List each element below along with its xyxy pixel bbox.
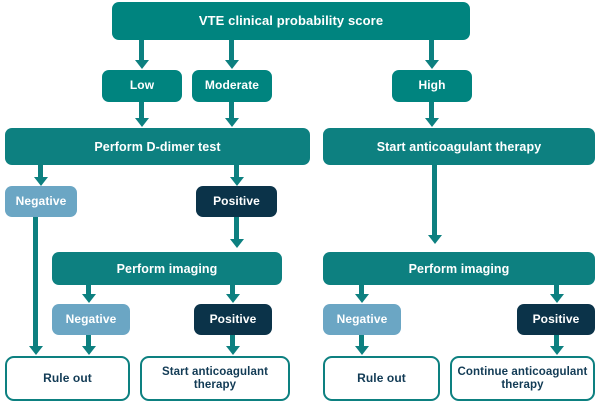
connector-imaging-right-to-negative-arrow [355,294,369,303]
connector-imaging-right-positive-to-continue-arrow [550,346,564,355]
node-label: Start anticoagulant therapy [377,140,542,154]
node-outcome-rule-out-right: Rule out [323,356,440,401]
connector-moderate-to-ddimer-arrow [225,118,239,127]
node-label: Positive [213,195,260,208]
connector-root-to-high-arrow [425,60,439,69]
node-probability-low: Low [102,70,182,102]
connector-imaging-left-to-positive-arrow [226,294,240,303]
flowchart-canvas: VTE clinical probability score Low Moder… [0,0,600,405]
connector-ddimer-positive-to-imaging-shaft [234,217,239,241]
node-probability-moderate: Moderate [192,70,272,102]
node-label: Perform imaging [409,262,510,276]
node-label: Rule out [43,372,92,385]
node-label: Perform imaging [117,262,218,276]
node-label: Continue anticoagulant therapy [456,366,589,392]
node-imaging-right-positive: Positive [517,304,595,335]
node-label: Positive [210,313,257,326]
connector-imaging-right-negative-to-rule-out-arrow [355,346,369,355]
node-label: High [418,79,445,92]
connector-imaging-right-to-positive-arrow [550,294,564,303]
node-label: Low [130,79,154,92]
node-label: Negative [66,313,117,326]
node-label: Rule out [357,372,406,385]
node-label: Perform D-dimer test [94,140,220,154]
node-probability-high: High [392,70,472,102]
connector-imaging-left-negative-to-rule-out-arrow [82,346,96,355]
node-label: Start anticoagulant therapy [146,366,284,392]
node-ddimer-positive: Positive [196,186,277,217]
node-imaging-left-positive: Positive [194,304,272,335]
connector-ddimer-to-negative-arrow [34,177,48,186]
node-start-anticoagulant-therapy-right: Start anticoagulant therapy [323,128,595,165]
node-perform-imaging-left: Perform imaging [52,252,282,285]
node-outcome-rule-out-left: Rule out [5,356,130,401]
node-perform-d-dimer-test: Perform D-dimer test [5,128,310,165]
connector-root-to-low-arrow [135,60,149,69]
node-label: VTE clinical probability score [199,14,383,29]
node-outcome-start-anticoagulant-therapy: Start anticoagulant therapy [140,356,290,401]
connector-root-to-moderate-shaft [229,40,234,62]
node-ddimer-negative: Negative [5,186,77,217]
connector-imaging-left-positive-to-start-arrow [226,346,240,355]
connector-ddimer-negative-to-rule-out-shaft [33,217,38,349]
node-label: Negative [16,195,67,208]
connector-low-to-ddimer-arrow [135,118,149,127]
node-label: Moderate [205,79,259,92]
node-imaging-left-negative: Negative [52,304,130,335]
connector-root-to-moderate-arrow [225,60,239,69]
node-outcome-continue-anticoagulant-therapy: Continue anticoagulant therapy [450,356,595,401]
connector-ddimer-to-positive-arrow [230,177,244,186]
connector-root-to-high-shaft [429,40,434,62]
node-label: Negative [337,313,388,326]
connector-ddimer-negative-to-rule-out-arrow [29,346,43,355]
connector-start-anticoagulant-to-imaging-shaft [432,165,437,237]
connector-root-to-low-shaft [139,40,144,62]
connector-high-to-start-anticoagulant-arrow [425,118,439,127]
connector-imaging-left-to-negative-arrow [82,294,96,303]
node-imaging-right-negative: Negative [323,304,401,335]
connector-ddimer-positive-to-imaging-arrow [230,239,244,248]
node-vte-clinical-probability-score: VTE clinical probability score [112,2,470,40]
connector-start-anticoagulant-to-imaging-arrow [428,235,442,244]
node-perform-imaging-right: Perform imaging [323,252,595,285]
node-label: Positive [533,313,580,326]
